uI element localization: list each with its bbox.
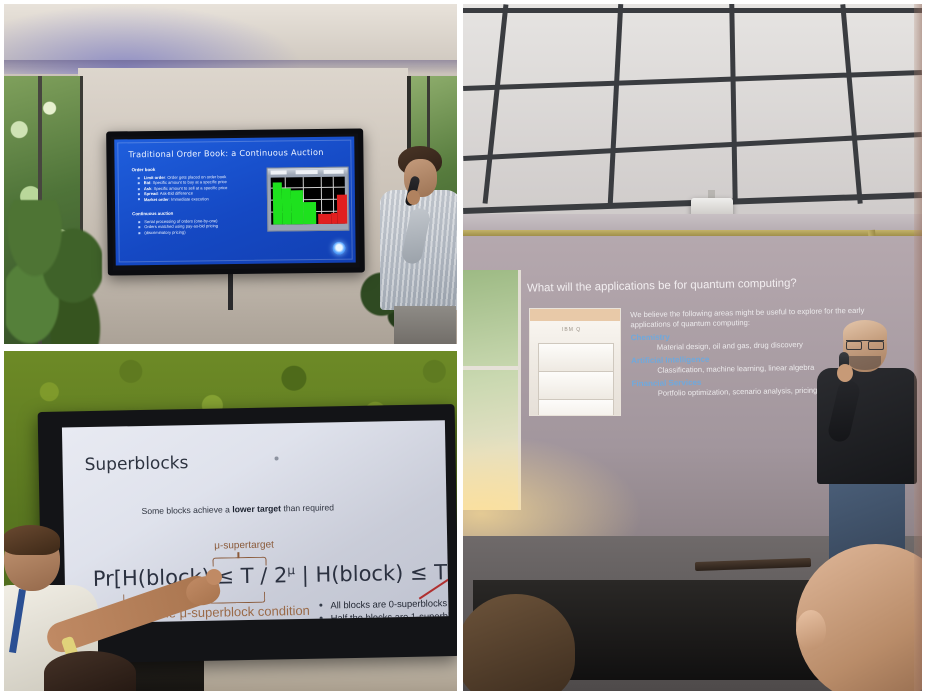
section-heading-order-book: Order book — [132, 167, 156, 172]
television-screen: Traditional Order Book: a Continuous Auc… — [106, 128, 365, 275]
eyeglasses-icon — [846, 340, 884, 348]
company-logo-icon — [332, 242, 345, 255]
speaker-hand — [837, 364, 853, 382]
quantum-computer-photo: IBM Q — [529, 308, 621, 416]
slide-subtitle: Some blocks achieve a lower target than … — [141, 502, 334, 516]
pointing-finger — [206, 569, 222, 585]
chart-plot-area — [271, 177, 346, 225]
speaker-with-microphone — [376, 146, 457, 344]
order-book-slide: Traditional Order Book: a Continuous Auc… — [114, 137, 356, 266]
panel-order-book-photo: Traditional Order Book: a Continuous Auc… — [4, 4, 457, 344]
audience-head-foreground — [44, 651, 136, 691]
slide-title: Superblocks — [84, 453, 188, 475]
chart-titlebar — [268, 168, 348, 176]
list-item-continuation: (discriminatory pricing) — [137, 229, 218, 235]
list-item: Half the blocks are 1-superblocks — [318, 609, 449, 624]
section-heading-continuous-auction: Continuous auction — [132, 211, 173, 217]
slide-title: What will the applications be for quantu… — [527, 277, 797, 294]
speaker-hair — [4, 525, 60, 555]
photo-collage: Traditional Order Book: a Continuous Auc… — [0, 0, 926, 695]
speaker-beard — [849, 356, 881, 370]
list-item: Market order: Immediate execution — [137, 196, 228, 203]
order-book-bullets: Limit order: Order gets placed on order … — [137, 174, 228, 202]
slide-marker-dot — [275, 456, 279, 460]
suspended-ceiling — [463, 4, 922, 220]
panel-superblocks-photo: Superblocks Some blocks achieve a lower … — [4, 351, 457, 691]
list-item: ¼ of blocks are 2-superblocks — [318, 622, 449, 623]
speaker-legs — [394, 306, 456, 344]
tv-stand — [228, 274, 233, 310]
audience-ear — [796, 610, 826, 650]
potted-plant — [6, 200, 102, 344]
ibm-q-caption: IBM Q — [562, 327, 581, 333]
panel-quantum-computing-photo: What will the applications be for quantu… — [463, 4, 922, 691]
red-arrow-icon — [417, 570, 449, 601]
order-book-depth-chart — [267, 167, 350, 232]
right-edge-shadow — [914, 4, 922, 691]
continuous-auction-bullets: Serial processing of orders (one-by-one)… — [137, 218, 218, 235]
speaker-hand — [407, 190, 420, 205]
